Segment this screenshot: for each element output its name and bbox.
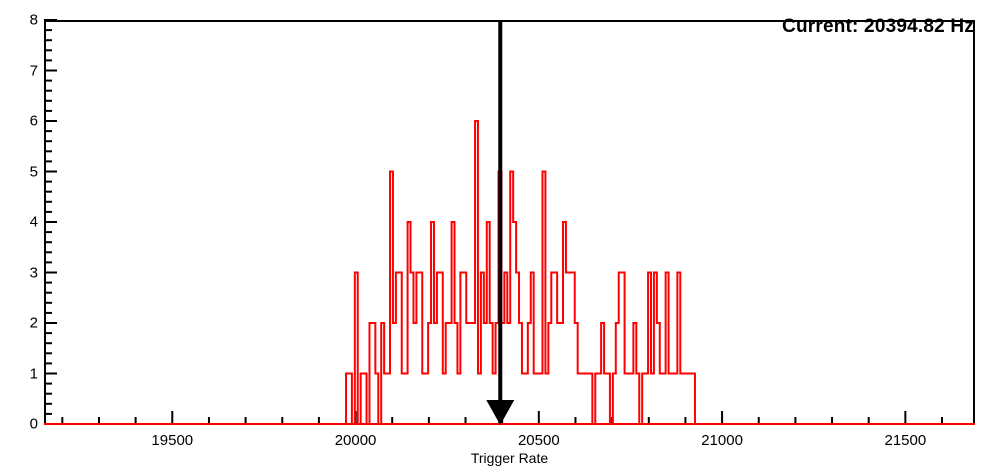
y-tick-label: 1 (8, 365, 38, 382)
y-tick-label: 0 (8, 416, 38, 433)
x-tick-label: 20000 (335, 432, 377, 449)
plot-area (0, 0, 996, 472)
x-tick-label: 21000 (701, 432, 743, 449)
x-tick-label: 20500 (518, 432, 560, 449)
x-tick-label: 19500 (151, 432, 193, 449)
y-tick-label: 6 (8, 113, 38, 130)
y-tick-label: 5 (8, 163, 38, 180)
histogram-bars (44, 121, 975, 424)
y-tick-label: 7 (8, 62, 38, 79)
x-tick-label: 21500 (884, 432, 926, 449)
y-tick-label: 2 (8, 315, 38, 332)
x-axis-title: Trigger Rate (471, 450, 548, 466)
y-tick-label: 8 (8, 12, 38, 29)
y-axis-ticks (44, 20, 57, 424)
y-tick-label: 4 (8, 214, 38, 231)
y-tick-label: 3 (8, 264, 38, 281)
histogram-canvas: Current: 20394.82 Hz 012345678 195002000… (0, 0, 996, 472)
